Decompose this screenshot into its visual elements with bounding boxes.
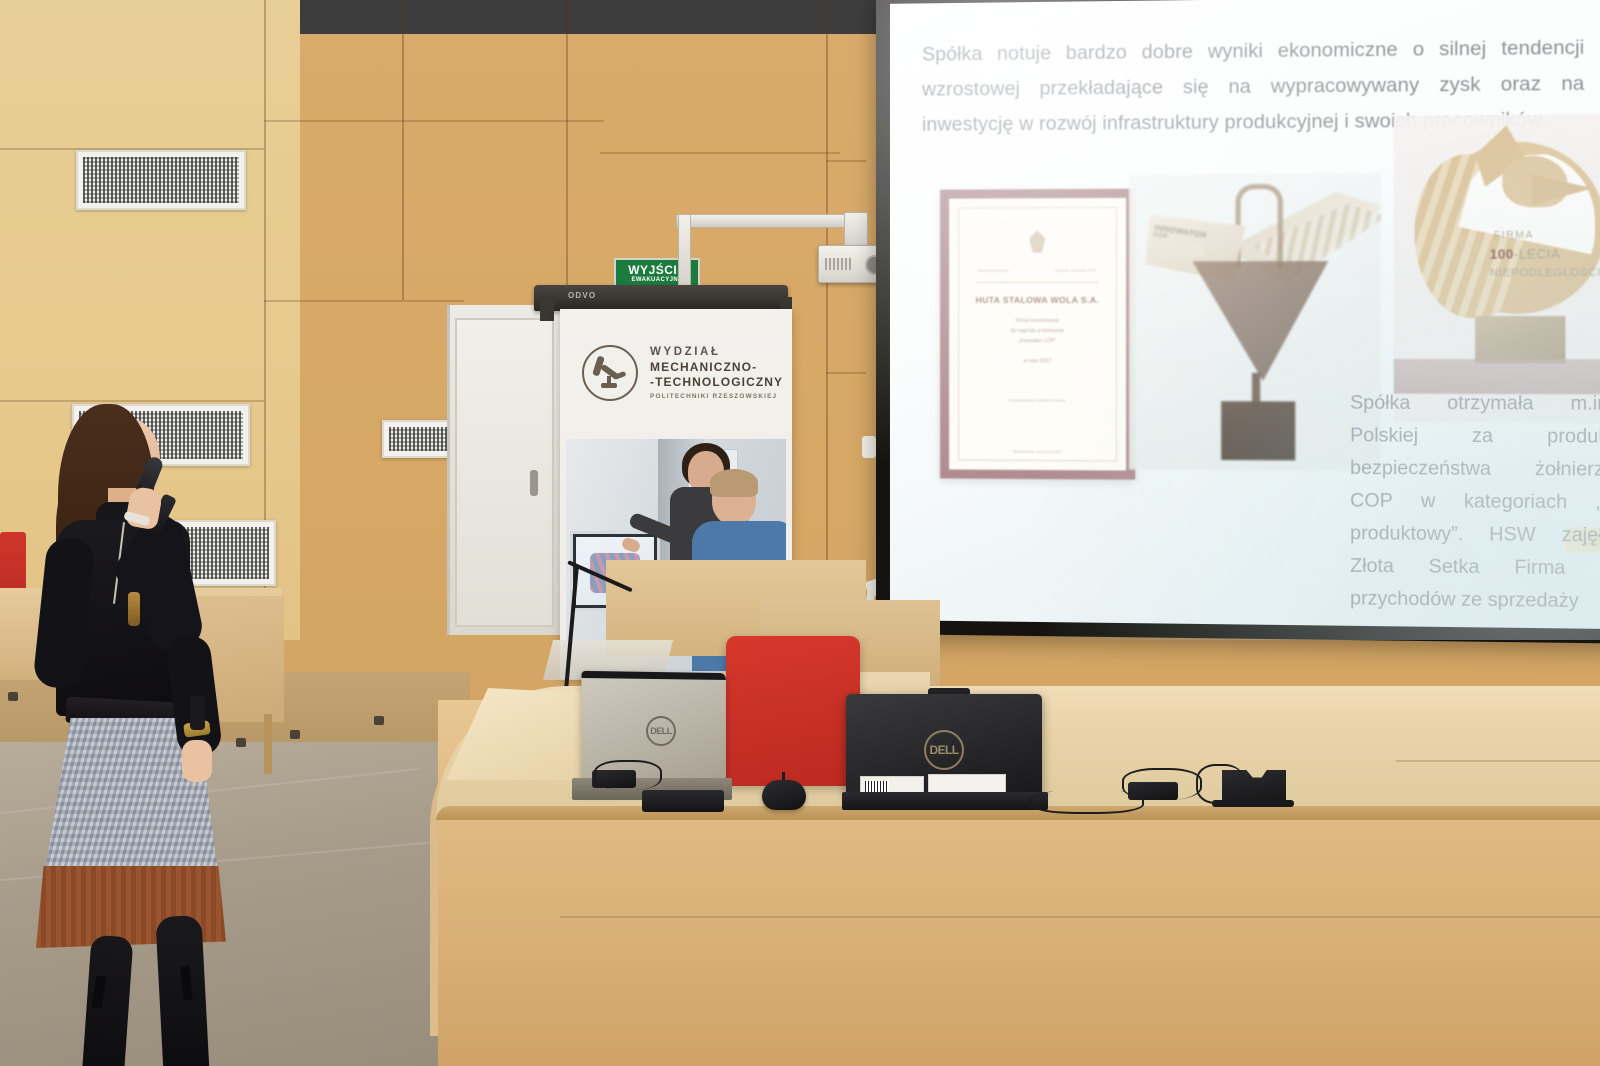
- presenter-pendant: [128, 592, 140, 626]
- wall-seam: [566, 0, 568, 290]
- banner-photo-man-hair: [710, 469, 758, 497]
- projection-screen-frame: Spółka notuje bardzo dobre wyniki ekonom…: [876, 0, 1600, 644]
- door-handle[interactable]: [530, 470, 538, 496]
- banner-logo-block: WYDZIAŁ MECHANICZNO- -TECHNOLOGICZNY POL…: [582, 345, 783, 401]
- hall-door[interactable]: [455, 318, 554, 627]
- coiled-cable: [594, 760, 662, 790]
- innowator-trophy-image: INNOWATOR COP: [1129, 173, 1381, 471]
- eagle-text-firma: FIRMA: [1494, 230, 1534, 241]
- certificate-left-caption: Patronat Honorowy: [978, 269, 1009, 273]
- lectern-seam: [560, 916, 1600, 918]
- eagle-number-100: 100: [1490, 246, 1514, 261]
- dock-cable: [1196, 764, 1244, 804]
- certificate-signature: Stalowa Wola, 16 czerwca 2017: [1013, 450, 1062, 454]
- floor-bolt: [290, 730, 300, 739]
- certificate-emblem-icon: [1029, 230, 1045, 252]
- certificate-divider: [976, 282, 1098, 283]
- laptop-black-base: [842, 792, 1048, 810]
- wall-seam: [826, 372, 866, 374]
- certificate-year: w roku 2017: [1024, 358, 1052, 364]
- certificate-body-3: „Innowator COP”: [1011, 336, 1064, 346]
- banner-line-3: -TECHNOLOGICZNY: [650, 375, 783, 390]
- certificate-body-1: Firma nominowana: [1011, 316, 1064, 326]
- wall-seam: [264, 120, 604, 122]
- computer-mouse[interactable]: [762, 780, 806, 810]
- slide-paragraph-bottom: Spółka otrzymała m.in. Polskiej za produ…: [1350, 387, 1600, 618]
- floor-bolt: [374, 716, 384, 725]
- trophy-flag-plate: [1162, 243, 1205, 257]
- lectern-seam: [1396, 760, 1600, 762]
- air-vent-icon: [76, 150, 246, 210]
- projector-arm-horizontal: [676, 214, 864, 228]
- rollup-foot-left: [540, 299, 554, 321]
- banner-line-4: POLITECHNIKI RZESZOWSKIEJ: [650, 393, 783, 400]
- certificate-right-caption: Kapituła „Innowator COP”: [1055, 269, 1097, 273]
- wall-seam: [264, 300, 464, 302]
- certificate-body-2: do nagrody w konkursie: [1011, 326, 1064, 336]
- eagle-pedestal: NAGRODA ZŁOTA BRANŻA: [1475, 316, 1565, 363]
- exit-sign-line2: EWAKUACYJNE: [631, 276, 682, 284]
- wall-seam: [826, 160, 866, 162]
- floor-bolt: [8, 692, 18, 701]
- banner-line-1: WYDZIAŁ: [650, 345, 783, 360]
- slide-content: Spółka notuje bardzo dobre wyniki ekonom…: [890, 0, 1600, 629]
- slide-remote[interactable]: [190, 696, 205, 730]
- certificate-image: Patronat Honorowy Kapituła „Innowator CO…: [940, 189, 1135, 480]
- lecture-hall-photo: WYJŚCIE EWAKUACYJNE Spółka notuje bardzo…: [0, 0, 1600, 1066]
- eagle-text-niepodleglosci: NIEPODLEGŁOŚCI: [1490, 267, 1600, 279]
- projector-vent-icon: [825, 258, 851, 270]
- presenter: [32, 396, 272, 1016]
- rollup-brand-label: ODVO: [568, 291, 596, 300]
- wall-switch[interactable]: [862, 436, 876, 458]
- rollup-banner-case: ODVO: [534, 285, 788, 311]
- trophy-base: [1221, 401, 1295, 460]
- eagle-text-100lecia: 100-LECIA: [1490, 246, 1561, 262]
- presenter-left-hand: [182, 740, 212, 782]
- certificate-company: HUTA STALOWA WOLA S.A.: [976, 295, 1100, 305]
- wall-seam: [600, 152, 840, 154]
- dell-logo-silver: DELL: [646, 716, 676, 746]
- robotic-arm-icon: [582, 345, 638, 401]
- presenter-boot-left: [80, 935, 133, 1066]
- floor-cable: [1030, 790, 1144, 814]
- red-chair[interactable]: [726, 636, 860, 786]
- desk-black-tray: [642, 790, 724, 812]
- dell-logo-black: DELL: [924, 730, 964, 770]
- eagle-lecia: -LECIA: [1514, 246, 1561, 262]
- projection-screen: Spółka notuje bardzo dobre wyniki ekonom…: [890, 0, 1600, 629]
- eagle-trophy-image: FIRMA 100-LECIA NIEPODLEGŁOŚCI NAGRODA Z…: [1394, 114, 1600, 423]
- wall-seam: [402, 0, 404, 300]
- banner-line-2: MECHANICZNO-: [650, 360, 783, 375]
- certificate-footer: Przewodniczący Kapituły Konkursu: [1009, 398, 1066, 402]
- trophy-cone-shape: [1192, 261, 1328, 381]
